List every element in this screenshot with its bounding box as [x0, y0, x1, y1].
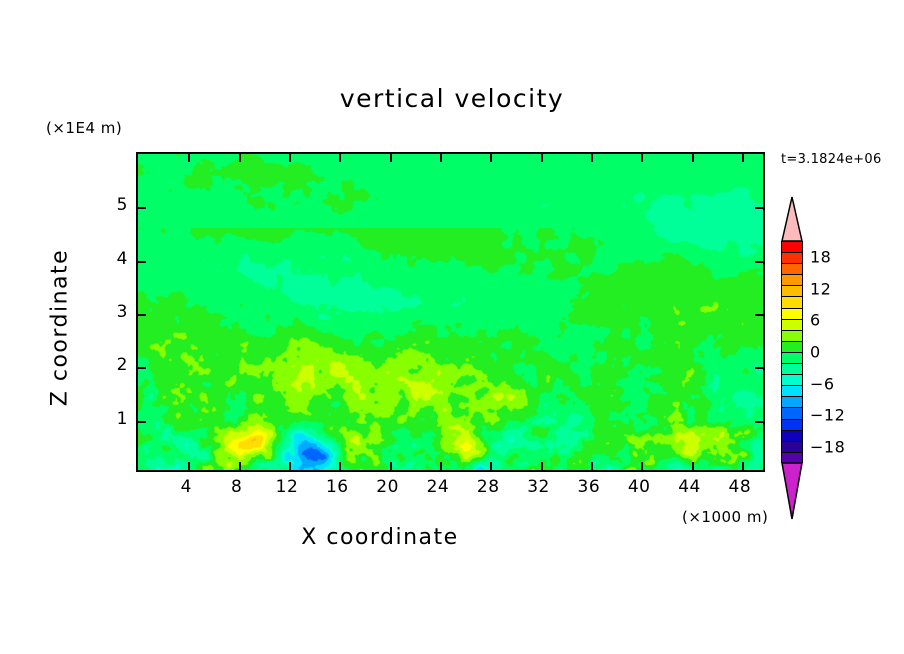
x-axis-tick	[591, 153, 593, 162]
x-axis-tick	[692, 462, 694, 471]
x-axis-tick	[641, 462, 643, 471]
x-axis-tick	[188, 462, 190, 471]
x-axis-tick-label: 48	[729, 477, 752, 497]
x-axis-tick	[239, 462, 241, 471]
x-axis-tick	[692, 153, 694, 162]
x-axis-tick-label: 16	[326, 477, 349, 497]
colorbar-band	[782, 353, 802, 364]
x-axis-tick-label: 4	[181, 477, 192, 497]
x-axis-tick	[289, 462, 291, 471]
colorbar-band	[782, 364, 802, 375]
colorbar-band	[782, 420, 802, 431]
y-axis-tick	[755, 314, 764, 316]
colorbar-tick-label: 6	[810, 311, 821, 330]
y-axis-tick	[755, 261, 764, 263]
colorbar-bottom-arrow-icon	[781, 462, 803, 520]
contour-plot-area	[136, 152, 765, 472]
colorbar-band	[782, 331, 802, 342]
colorbar-tick-label: 12	[810, 279, 831, 298]
colorbar-tick-label: 0	[810, 343, 821, 362]
colorbar-band	[782, 442, 802, 453]
colorbar-band	[782, 397, 802, 408]
vertical-velocity-field	[138, 154, 763, 470]
x-axis-tick-label: 12	[276, 477, 299, 497]
y-axis-tick	[137, 421, 146, 423]
x-axis-tick	[742, 462, 744, 471]
x-axis-tick	[339, 462, 341, 471]
x-axis-tick	[289, 153, 291, 162]
x-axis-tick-label: 32	[527, 477, 550, 497]
y-axis-unit-label: (×1E4 m)	[46, 119, 122, 137]
colorbar-band	[782, 431, 802, 442]
colorbar-band	[782, 286, 802, 297]
y-axis-tick	[137, 367, 146, 369]
colorbar-band	[782, 375, 802, 386]
colorbar-band	[782, 242, 802, 253]
x-axis-tick-label: 36	[578, 477, 601, 497]
x-axis-tick	[591, 462, 593, 471]
x-axis-tick	[541, 153, 543, 162]
x-axis-tick	[440, 153, 442, 162]
x-axis-tick	[641, 153, 643, 162]
y-axis-tick-label: 4	[117, 249, 128, 269]
x-axis-tick-label: 24	[427, 477, 450, 497]
y-axis-tick	[137, 314, 146, 316]
x-axis-unit-label: (×1000 m)	[682, 508, 768, 526]
figure-canvas: vertical velocity (×1E4 m) (×1000 m) t=3…	[0, 0, 904, 654]
x-axis-tick	[440, 462, 442, 471]
y-axis-title: Z coordinate	[48, 228, 73, 428]
x-axis-tick-label: 8	[231, 477, 242, 497]
x-axis-tick	[239, 153, 241, 162]
x-axis-tick	[490, 462, 492, 471]
x-axis-tick	[541, 462, 543, 471]
colorbar-tick-label: −12	[810, 406, 845, 425]
colorbar	[781, 241, 803, 463]
x-axis-tick-label: 40	[628, 477, 651, 497]
y-axis-tick-label: 1	[117, 409, 128, 429]
colorbar-band	[782, 408, 802, 419]
time-annotation: t=3.1824e+06	[781, 152, 882, 167]
y-axis-tick-label: 2	[117, 355, 128, 375]
x-axis-tick	[390, 153, 392, 162]
x-axis-tick-label: 44	[678, 477, 701, 497]
x-axis-tick-label: 28	[477, 477, 500, 497]
colorbar-band	[782, 253, 802, 264]
y-axis-tick	[755, 207, 764, 209]
x-axis-tick	[188, 153, 190, 162]
colorbar-band	[782, 386, 802, 397]
x-axis-tick	[390, 462, 392, 471]
y-axis-tick	[137, 207, 146, 209]
y-axis-tick	[137, 261, 146, 263]
x-axis-title: X coordinate	[0, 525, 760, 550]
colorbar-tick-label: 18	[810, 247, 831, 266]
x-axis-tick	[490, 153, 492, 162]
x-axis-tick	[742, 153, 744, 162]
colorbar-band	[782, 264, 802, 275]
colorbar-band	[782, 320, 802, 331]
x-axis-tick	[339, 153, 341, 162]
colorbar-tick-label: −18	[810, 438, 845, 457]
colorbar-top-arrow-icon	[781, 196, 803, 242]
colorbar-tick-label: −6	[810, 374, 835, 393]
page-title: vertical velocity	[0, 84, 904, 113]
y-axis-tick	[755, 421, 764, 423]
colorbar-band	[782, 342, 802, 353]
y-axis-tick	[755, 367, 764, 369]
y-axis-tick-label: 5	[117, 195, 128, 215]
x-axis-tick-label: 20	[376, 477, 399, 497]
y-axis-tick-label: 3	[117, 302, 128, 322]
colorbar-band	[782, 275, 802, 286]
colorbar-band	[782, 309, 802, 320]
colorbar-band	[782, 297, 802, 308]
